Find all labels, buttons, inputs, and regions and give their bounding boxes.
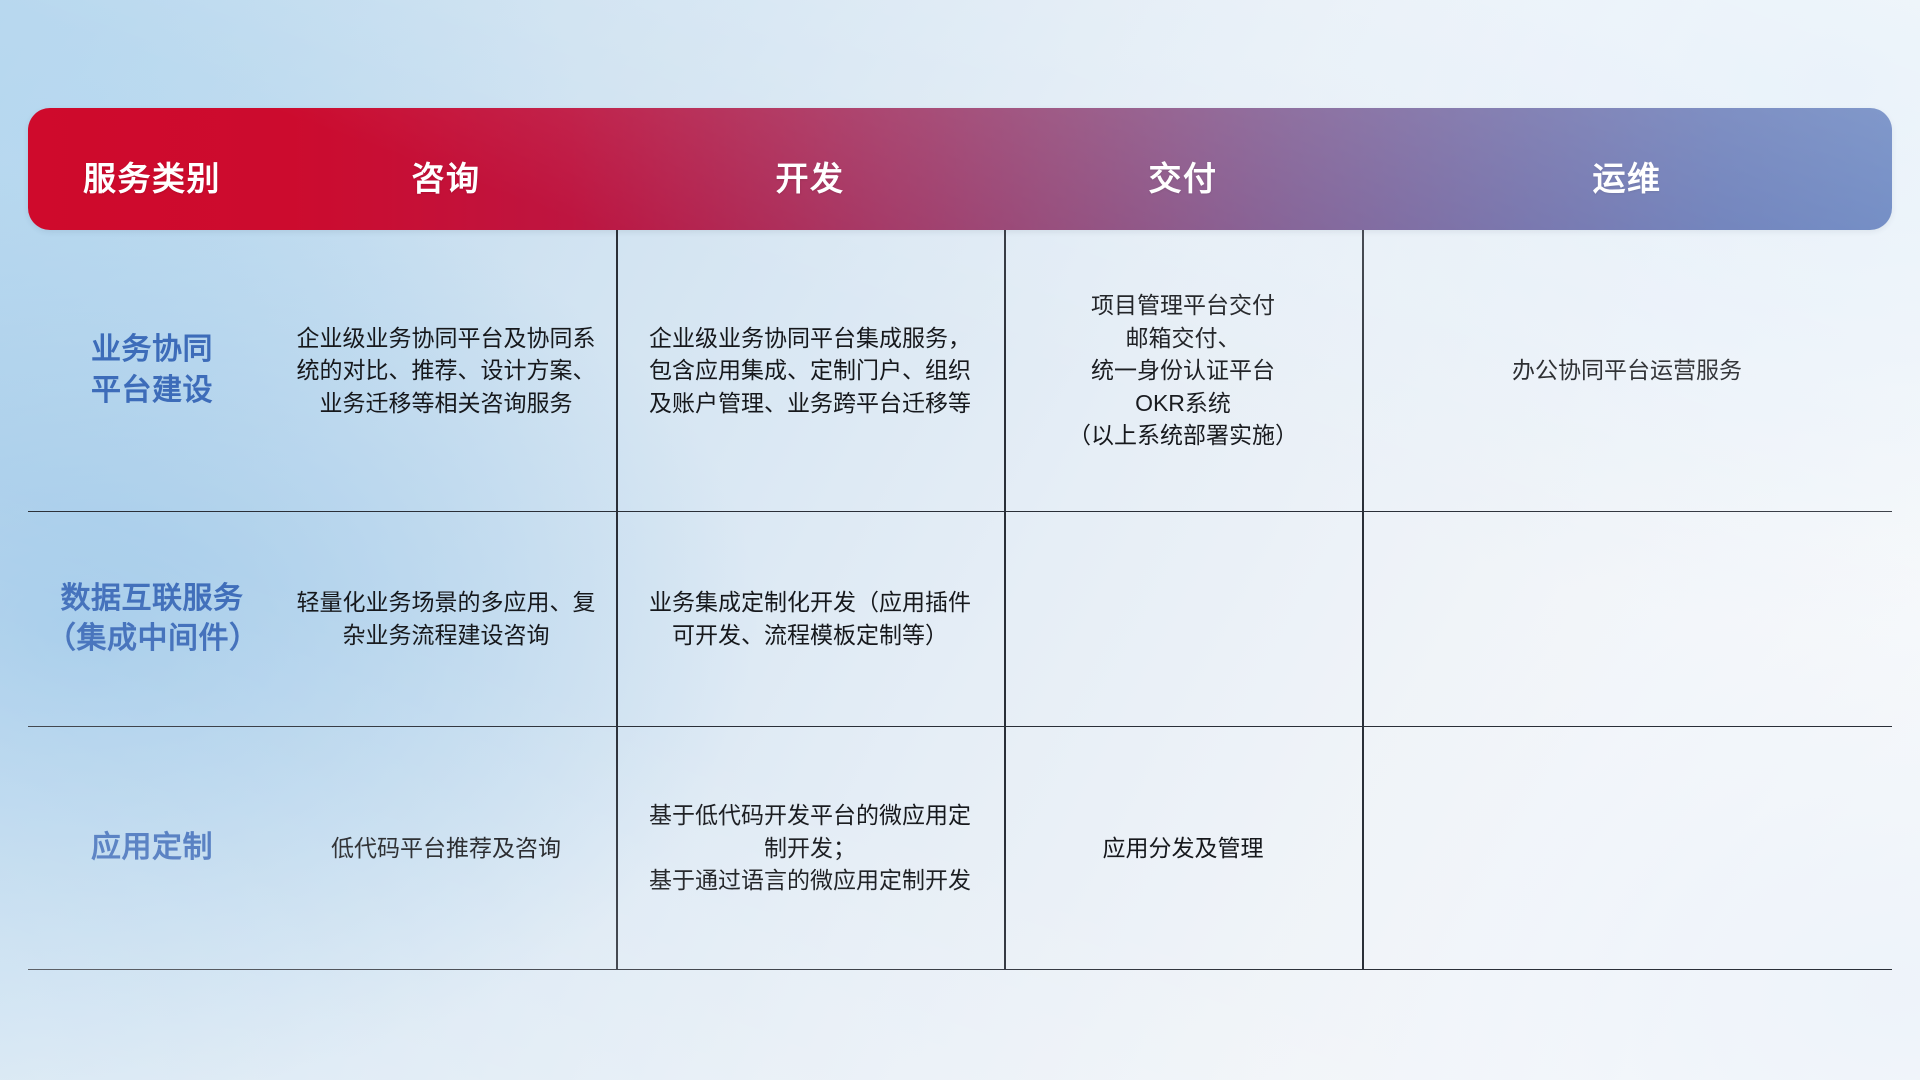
cell-consulting: 低代码平台推荐及咨询: [276, 727, 616, 969]
cell-category: 应用定制: [28, 727, 276, 969]
slide-canvas: 服务类别 咨询 开发 交付 运维 业务协同 平台建设 企业级业务协同平台及协同系…: [0, 0, 1920, 1080]
column-header-delivery: 交付: [1004, 108, 1362, 230]
cell-category: 业务协同 平台建设: [28, 230, 276, 511]
column-header-service-category: 服务类别: [28, 108, 276, 230]
cell-development: 基于低代码开发平台的微应用定 制开发； 基于通过语言的微应用定制开发: [616, 727, 1004, 969]
column-header-operations: 运维: [1362, 108, 1892, 230]
table-row: 应用定制 低代码平台推荐及咨询 基于低代码开发平台的微应用定 制开发； 基于通过…: [28, 727, 1892, 970]
cell-delivery: [1004, 512, 1362, 726]
column-header-consulting: 咨询: [276, 108, 616, 230]
cell-operations: 办公协同平台运营服务: [1362, 230, 1892, 511]
cell-consulting: 企业级业务协同平台及协同系 统的对比、推荐、设计方案、 业务迁移等相关咨询服务: [276, 230, 616, 511]
cell-delivery: 项目管理平台交付 邮箱交付、 统一身份认证平台 OKR系统 （以上系统部署实施）: [1004, 230, 1362, 511]
cell-category: 数据互联服务 （集成中间件）: [28, 512, 276, 726]
cell-delivery: 应用分发及管理: [1004, 727, 1362, 969]
cell-operations: [1362, 727, 1892, 969]
table-body: 业务协同 平台建设 企业级业务协同平台及协同系 统的对比、推荐、设计方案、 业务…: [28, 230, 1892, 970]
cell-consulting: 轻量化业务场景的多应用、复 杂业务流程建设咨询: [276, 512, 616, 726]
table-header-row: 服务类别 咨询 开发 交付 运维: [28, 108, 1892, 230]
service-matrix-table: 服务类别 咨询 开发 交付 运维 业务协同 平台建设 企业级业务协同平台及协同系…: [28, 108, 1892, 950]
table-row: 数据互联服务 （集成中间件） 轻量化业务场景的多应用、复 杂业务流程建设咨询 业…: [28, 512, 1892, 727]
cell-development: 业务集成定制化开发（应用插件 可开发、流程模板定制等）: [616, 512, 1004, 726]
column-header-development: 开发: [616, 108, 1004, 230]
table-row: 业务协同 平台建设 企业级业务协同平台及协同系 统的对比、推荐、设计方案、 业务…: [28, 230, 1892, 512]
cell-operations: [1362, 512, 1892, 726]
cell-development: 企业级业务协同平台集成服务， 包含应用集成、定制门户、组织 及账户管理、业务跨平…: [616, 230, 1004, 511]
